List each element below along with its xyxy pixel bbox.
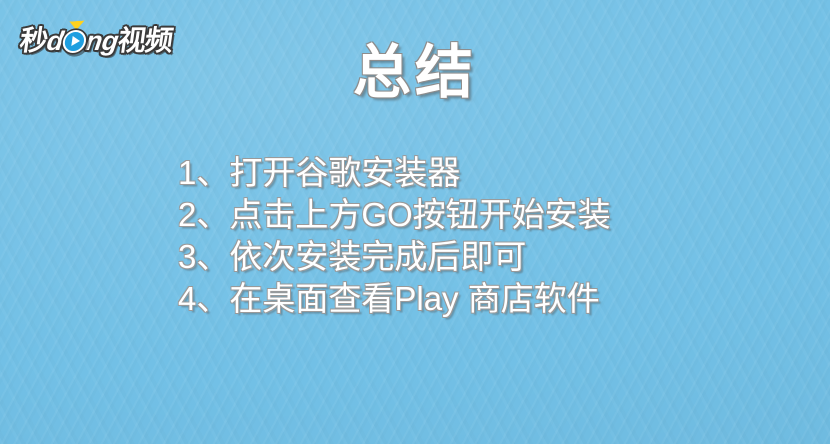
page-title: 总结: [0, 44, 830, 102]
summary-slide: 秒 d ng 视频 总结 1、打开谷歌安装器 2、点击上方GO按钮开始安装 3、…: [0, 0, 830, 444]
list-item: 1、打开谷歌安装器: [178, 152, 800, 194]
steps-list: 1、打开谷歌安装器 2、点击上方GO按钮开始安装 3、依次安装完成后即可 4、在…: [178, 152, 800, 320]
logo-accent-mark: [69, 20, 85, 30]
list-item: 2、点击上方GO按钮开始安装: [178, 194, 800, 236]
list-item: 4、在桌面查看Play 商店软件: [178, 278, 800, 320]
list-item: 3、依次安装完成后即可: [178, 236, 800, 278]
